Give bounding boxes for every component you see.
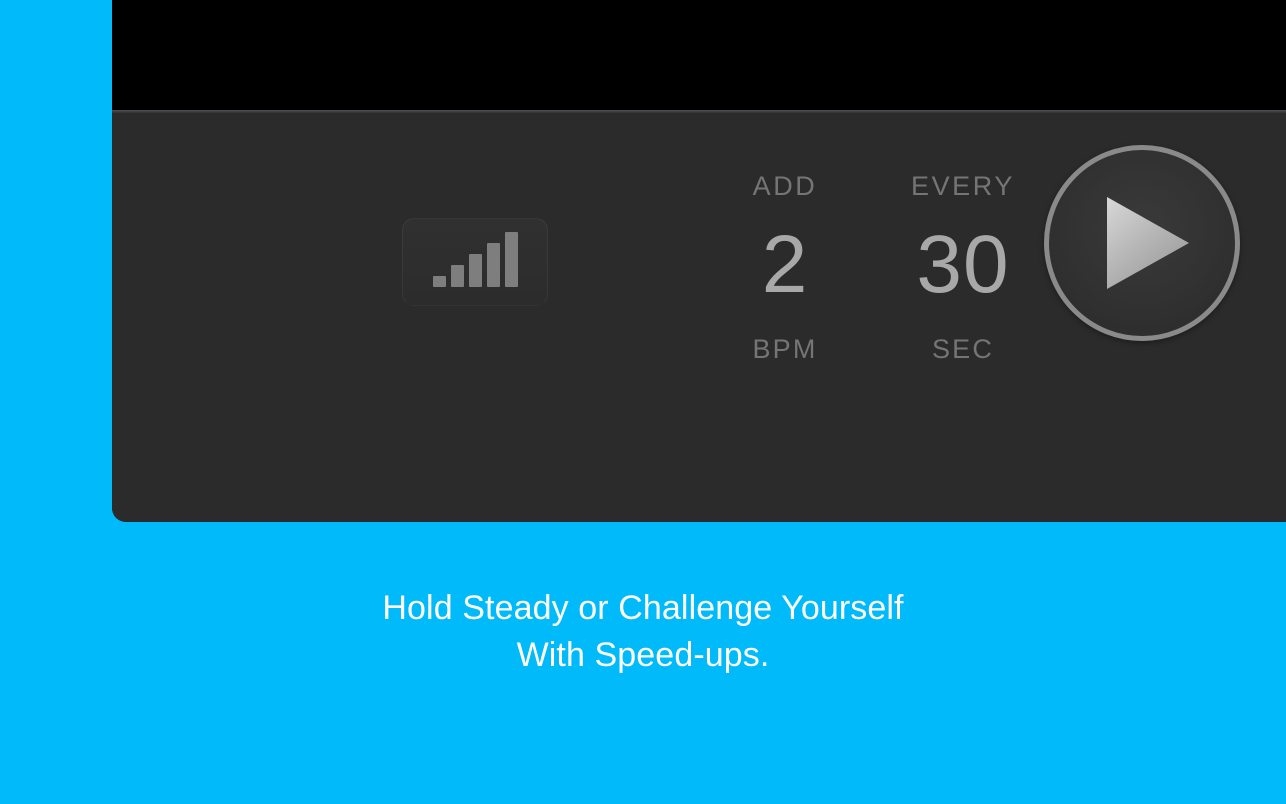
every-sec-value[interactable]: 30 <box>878 224 1048 306</box>
add-bpm-value[interactable]: 2 <box>700 224 870 306</box>
add-caption: ADD <box>700 173 870 200</box>
metronome-display-screen <box>112 0 1286 110</box>
play-button[interactable] <box>1044 145 1240 341</box>
play-icon <box>1093 195 1191 291</box>
add-bpm-unit: BPM <box>700 336 870 363</box>
caption-line-2: With Speed-ups. <box>0 632 1286 679</box>
every-caption: EVERY <box>878 173 1048 200</box>
ascending-bars-icon <box>433 235 518 287</box>
every-sec-unit: SEC <box>878 336 1048 363</box>
slide-caption: Hold Steady or Challenge Yourself With S… <box>0 585 1286 679</box>
app-store-screenshot-slide: ADD 2 BPM EVERY 30 SEC <box>0 0 1286 804</box>
caption-line-1: Hold Steady or Challenge Yourself <box>0 585 1286 632</box>
speedup-mode-toggle-button[interactable] <box>402 218 548 306</box>
add-bpm-stepper[interactable]: ADD 2 BPM <box>700 173 870 363</box>
speedup-controls-area: ADD 2 BPM EVERY 30 SEC <box>112 113 1286 522</box>
device-panel: ADD 2 BPM EVERY 30 SEC <box>112 0 1286 522</box>
every-seconds-stepper[interactable]: EVERY 30 SEC <box>878 173 1048 363</box>
